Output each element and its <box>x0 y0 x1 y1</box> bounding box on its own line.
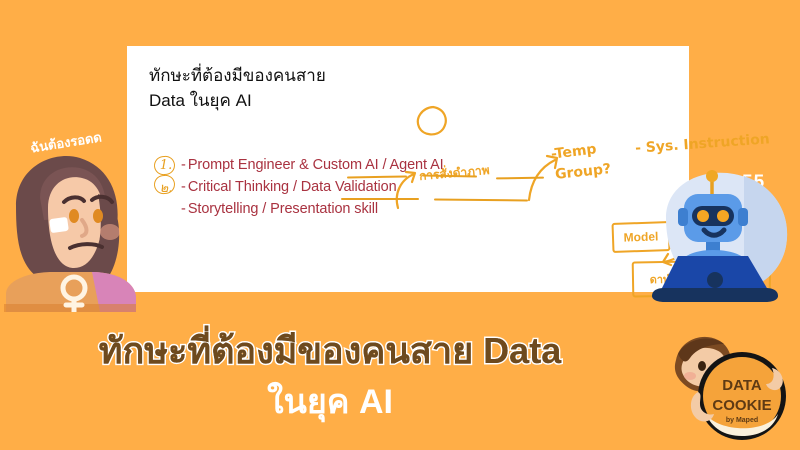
underline-mark <box>341 198 419 200</box>
list-item: ๒. - Critical Thinking / Data Validation <box>151 176 571 198</box>
card-title: ทักษะที่ต้องมีของคนสาย Data ในยุค AI <box>149 64 449 113</box>
handwriting-sys-instruction: - Sys. Instruction <box>635 131 771 156</box>
list-item-label: Storytelling / Presentation skill <box>188 201 378 217</box>
list-marker-1: 1. <box>151 158 181 173</box>
whiteboard-card: ทักษะที่ต้องมีของคนสาย Data ในยุค AI การ… <box>127 46 689 292</box>
slide-canvas: ทักษะที่ต้องมีของคนสาย Data ในยุค AI การ… <box>0 0 800 450</box>
list-item-label: Prompt Engineer & Custom AI / Agent AI <box>188 157 444 173</box>
banner-line2: ในยุค AI <box>0 374 680 428</box>
svg-text:by Maped: by Maped <box>726 417 758 424</box>
list-item: - Storytelling / Presentation skill <box>151 198 571 220</box>
list-item: 1. - Prompt Engineer & Custom AI / Agent… <box>151 154 571 176</box>
list-dash: - <box>181 157 186 173</box>
svg-text:DATA: DATA <box>722 377 762 394</box>
data-cookie-logo: DATA COOKIE by Maped <box>654 330 794 448</box>
list-dash: - <box>181 201 186 217</box>
list-item-label: Critical Thinking / Data Validation <box>188 179 397 195</box>
list-marker-2: ๒. <box>151 177 181 198</box>
girl-avatar <box>0 146 144 312</box>
list-dash: - <box>181 179 186 195</box>
svg-text:COOKIE: COOKIE <box>712 397 771 414</box>
robot-illustration <box>648 160 798 302</box>
skills-list: 1. - Prompt Engineer & Custom AI / Agent… <box>151 154 571 220</box>
circle-around-ai-icon <box>415 104 451 138</box>
banner-line1: ทักษะที่ต้องมีของคนสาย Data <box>0 322 680 379</box>
